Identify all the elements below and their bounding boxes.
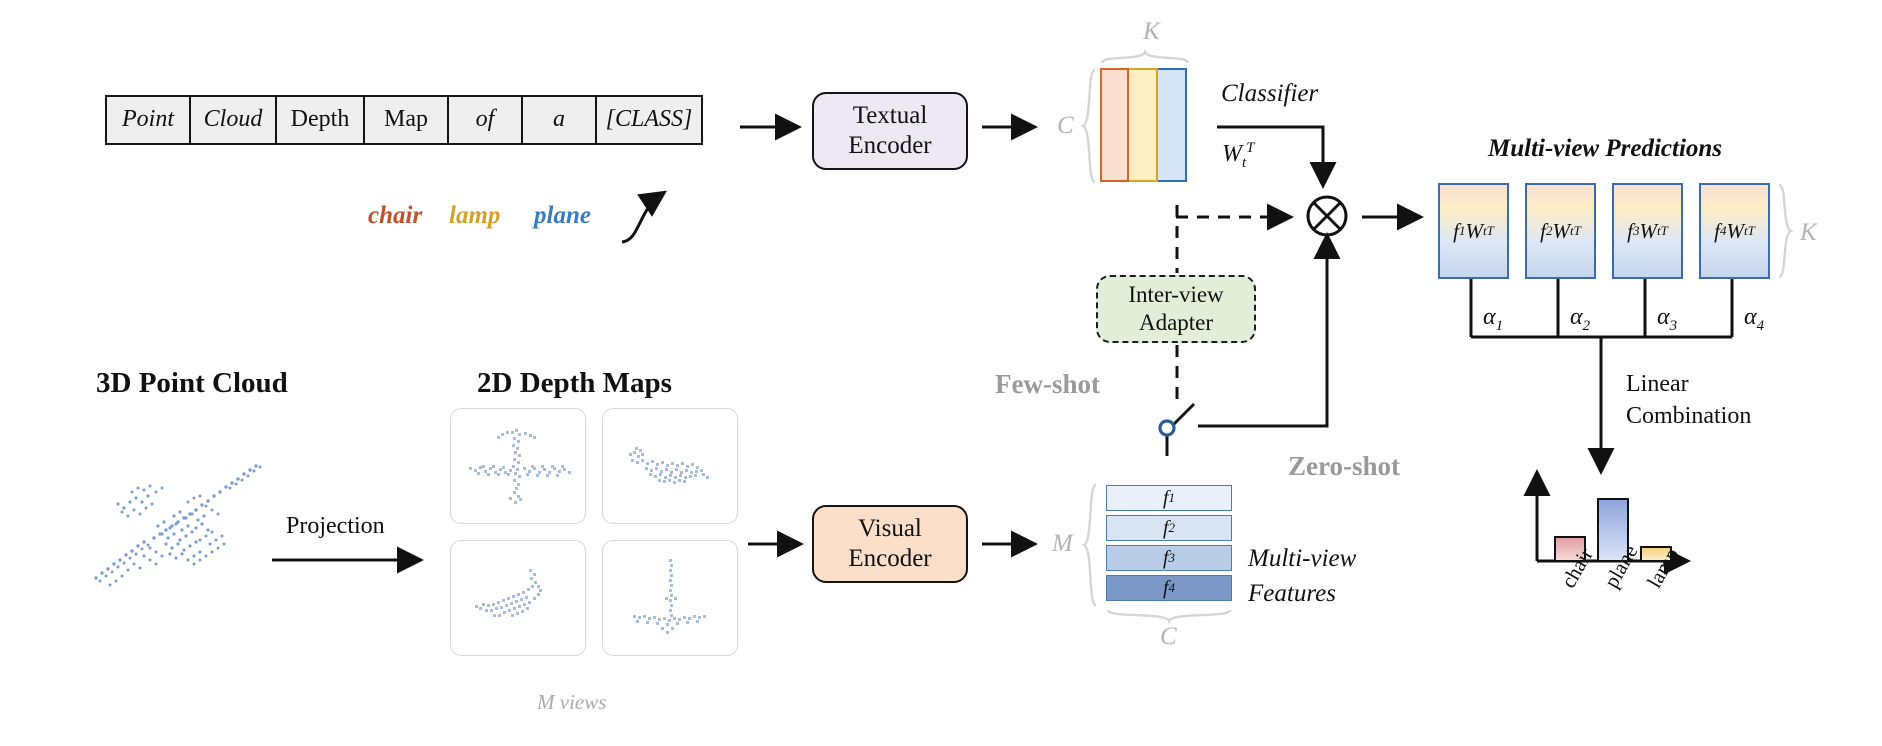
prompt-token-class: [CLASS] — [597, 97, 701, 143]
pred-w-3: W — [1639, 219, 1657, 244]
depth-map-thumb-3 — [450, 540, 586, 656]
classifier-dim-k-label: K — [1143, 18, 1160, 46]
pred-w-2: W — [1552, 219, 1570, 244]
arrow-depth-maps-to-visual-encoder — [748, 535, 810, 553]
visual-encoder-line2: Encoder — [848, 544, 931, 575]
prompt-token-point: Point — [107, 97, 191, 143]
linear-combination-line1: Linear — [1626, 371, 1689, 398]
depth-maps-title: 2D Depth Maps — [477, 367, 672, 400]
prediction-box-2: f2WtT — [1525, 183, 1596, 279]
zero-shot-path — [1196, 230, 1346, 430]
features-dim-c-label: C — [1160, 623, 1177, 651]
classifier-matrix — [1100, 68, 1187, 182]
textual-encoder-box: Textual Encoder — [812, 92, 968, 170]
classifier-column-chair — [1100, 68, 1129, 182]
alpha-sub-4: 4 — [1757, 318, 1765, 334]
classifier-top-brace-icon — [1100, 50, 1190, 65]
prompt-token-cloud: Cloud — [191, 97, 277, 143]
multi-view-feature-stack: f1 f2 f3 f4 — [1106, 485, 1232, 605]
alpha-label-2: α2 — [1570, 304, 1590, 335]
switch-toggle-icon[interactable] — [1150, 402, 1202, 458]
arrow-operator-to-predictions — [1362, 208, 1432, 226]
feature-sub-1: 1 — [1169, 490, 1176, 506]
prompt-token-a: a — [523, 97, 597, 143]
arrow-prompt-to-textual-encoder — [740, 118, 808, 138]
feature-row-2: f2 — [1106, 515, 1232, 541]
features-bottom-brace-icon — [1106, 608, 1232, 623]
predictions-title: Multi-view Predictions — [1488, 135, 1722, 163]
pred-w-sup-3: T — [1661, 223, 1668, 239]
figure-canvas: Point Cloud Depth Map of a [CLASS] chair… — [0, 0, 1882, 746]
depth-map-thumb-1 — [450, 408, 586, 524]
feature-row-4: f4 — [1106, 575, 1232, 601]
depth-map-image-1 — [451, 409, 586, 524]
predictions-dim-k-label: K — [1800, 219, 1817, 247]
point-cloud-title: 3D Point Cloud — [96, 367, 288, 400]
predictions-right-brace-icon — [1777, 183, 1793, 279]
depth-map-image-4 — [603, 541, 738, 656]
pred-w-sup-4: T — [1748, 223, 1755, 239]
dashed-arrow-adapter-to-operator — [1176, 208, 1304, 226]
views-caption: M views — [537, 690, 606, 715]
feature-row-1: f1 — [1106, 485, 1232, 511]
depth-map-image-2 — [603, 409, 738, 524]
prompt-token-row: Point Cloud Depth Map of a [CLASS] — [105, 95, 703, 145]
prediction-box-row: f1WtT f2WtT f3WtT f4WtT — [1438, 183, 1770, 279]
classifier-label: Classifier — [1221, 80, 1318, 108]
pred-w-sup-1: T — [1487, 223, 1494, 239]
linear-combination-line2: Combination — [1626, 403, 1751, 430]
feature-sub-4: 4 — [1169, 580, 1176, 596]
point-cloud-illustration — [78, 440, 288, 590]
depth-map-image-3 — [451, 541, 586, 656]
alpha-symbol-1: α — [1483, 304, 1496, 330]
alpha-label-3: α3 — [1657, 304, 1677, 335]
prompt-token-of: of — [449, 97, 523, 143]
class-word-chair: chair — [368, 202, 422, 230]
pred-w-1: W — [1465, 219, 1483, 244]
textual-encoder-line1: Textual — [853, 101, 928, 132]
features-left-brace-icon — [1082, 483, 1098, 607]
pred-w-sup-2: T — [1574, 223, 1581, 239]
depth-map-thumb-2 — [602, 408, 738, 524]
depth-map-grid — [450, 408, 738, 656]
arrow-projection — [272, 551, 432, 569]
alpha-symbol-4: α — [1744, 304, 1757, 330]
prediction-box-4: f4WtT — [1699, 183, 1770, 279]
features-caption-line1: Multi-view — [1248, 545, 1356, 573]
features-caption-line2: Features — [1248, 580, 1336, 608]
prediction-box-1: f1WtT — [1438, 183, 1509, 279]
alpha-symbol-3: α — [1657, 304, 1670, 330]
alpha-label-4: α4 — [1744, 304, 1764, 335]
alpha-sub-2: 2 — [1583, 318, 1591, 334]
feature-row-3: f3 — [1106, 545, 1232, 571]
visual-encoder-line1: Visual — [858, 514, 922, 545]
class-word-lamp: lamp — [449, 202, 500, 230]
alpha-symbol-2: α — [1570, 304, 1583, 330]
depth-map-thumb-4 — [602, 540, 738, 656]
zero-shot-label: Zero-shot — [1288, 451, 1400, 482]
prediction-box-3: f3WtT — [1612, 183, 1683, 279]
class-curve-arrow-icon — [600, 150, 730, 260]
class-word-plane: plane — [534, 202, 591, 230]
arrow-textual-encoder-to-classifier — [982, 118, 1044, 138]
alpha-sub-3: 3 — [1670, 318, 1678, 334]
feature-sub-3: 3 — [1169, 550, 1176, 566]
projection-label: Projection — [286, 513, 385, 540]
pred-w-4: W — [1726, 219, 1744, 244]
arrow-visual-encoder-to-features — [982, 535, 1044, 553]
feature-sub-2: 2 — [1169, 520, 1176, 536]
visual-encoder-box: Visual Encoder — [812, 505, 968, 583]
textual-encoder-line2: Encoder — [848, 131, 931, 162]
prompt-token-depth: Depth — [277, 97, 365, 143]
classifier-dim-c-label: C — [1057, 112, 1074, 140]
alpha-label-1: α1 — [1483, 304, 1503, 335]
few-shot-label: Few-shot — [995, 369, 1100, 400]
classifier-column-lamp — [1129, 68, 1158, 182]
classifier-column-plane — [1158, 68, 1187, 182]
prompt-token-map: Map — [365, 97, 449, 143]
dashed-line-adapter-vertical — [1170, 205, 1184, 405]
alpha-sub-1: 1 — [1496, 318, 1504, 334]
features-dim-m-label: M — [1052, 530, 1073, 558]
classifier-left-brace-icon — [1081, 68, 1097, 184]
